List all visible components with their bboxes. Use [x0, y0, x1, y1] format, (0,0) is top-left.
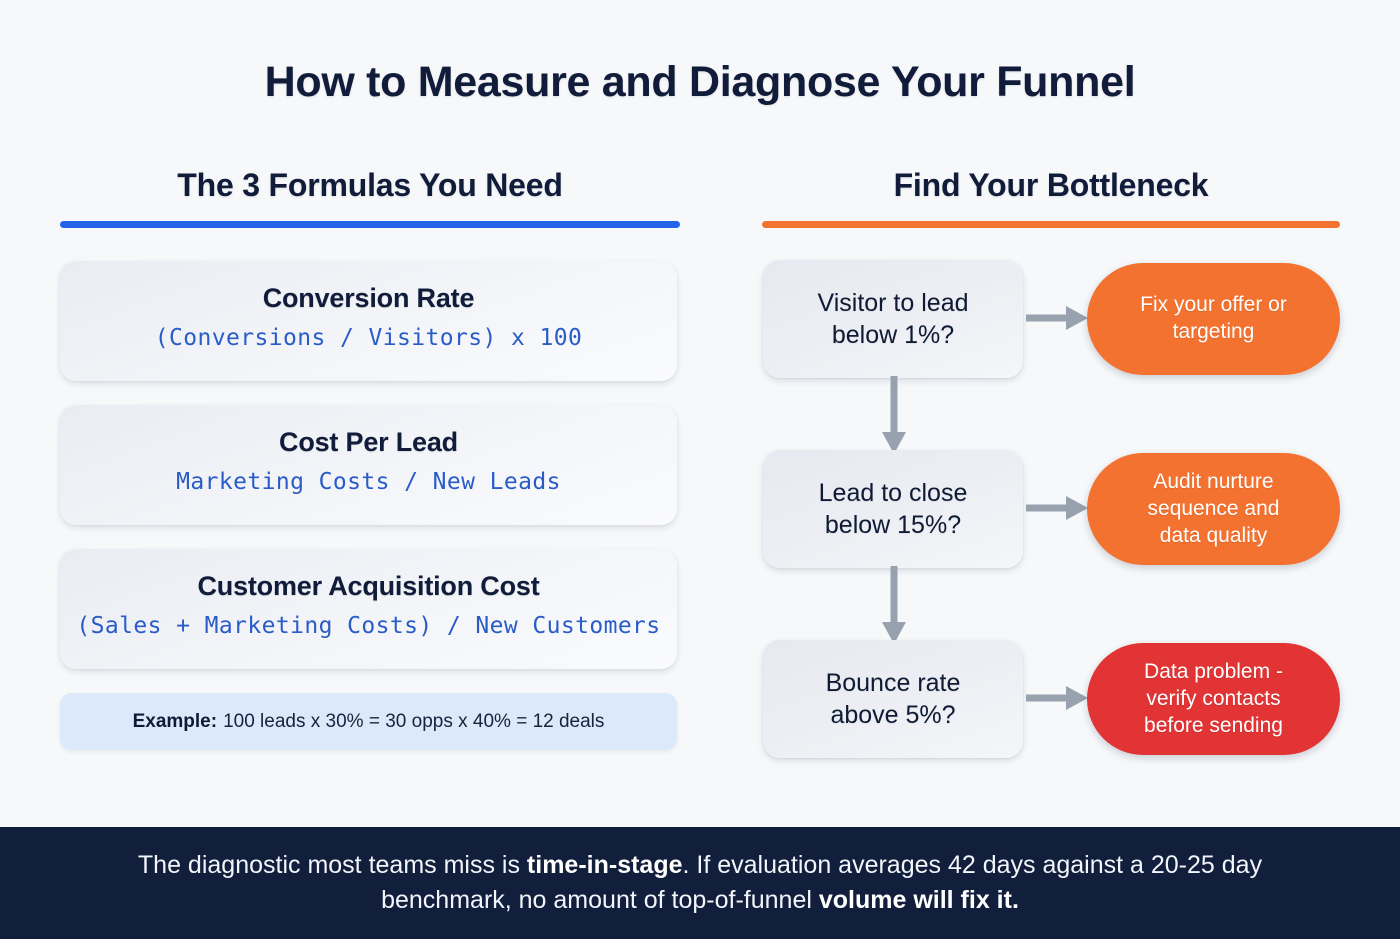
- example-box: Example:100 leads x 30% = 30 opps x 40% …: [60, 693, 677, 750]
- flow-row: Bounce rate above 5%? Data problem - ver…: [762, 640, 1340, 758]
- flow-action-fix-offer: Fix your offer or targeting: [1087, 263, 1340, 375]
- flow-row: Visitor to lead below 1%? Fix your offer…: [762, 260, 1340, 378]
- flow-action-line: data quality: [1160, 524, 1267, 547]
- flow-action-line: Fix your offer or: [1140, 293, 1287, 316]
- flow-question-lead-to-close: Lead to close below 15%?: [763, 450, 1023, 568]
- flow-action-line: verify contacts: [1146, 687, 1280, 710]
- flow-action-audit-nurture: Audit nurture sequence and data quality: [1087, 453, 1340, 565]
- arrow-down-icon: [880, 566, 908, 644]
- footer-text: The diagnostic most teams miss is time-i…: [85, 848, 1315, 919]
- formula-name: Customer Acquisition Cost: [74, 571, 663, 602]
- bottleneck-accent-rule: [762, 221, 1340, 228]
- formula-card-customer-acquisition-cost: Customer Acquisition Cost (Sales + Marke…: [60, 549, 677, 669]
- flow-action-line: Data problem -: [1144, 660, 1283, 683]
- flow-question-text: Lead to close below 15%?: [809, 477, 978, 541]
- infographic-page: How to Measure and Diagnose Your Funnel …: [0, 0, 1400, 939]
- arrow-right-icon: [1026, 304, 1088, 332]
- formulas-accent-rule: [60, 221, 680, 228]
- arrow-right-icon: [1026, 494, 1088, 522]
- formula-card-cost-per-lead: Cost Per Lead Marketing Costs / New Lead…: [60, 405, 677, 525]
- flow-question-text: Visitor to lead below 1%?: [807, 287, 978, 351]
- page-title: How to Measure and Diagnose Your Funnel: [0, 58, 1400, 107]
- flow-action-text: Data problem - verify contacts before se…: [1126, 659, 1301, 740]
- flow-action-text: Fix your offer or targeting: [1122, 292, 1305, 346]
- flow-action-line: targeting: [1173, 320, 1255, 343]
- footer-banner: The diagnostic most teams miss is time-i…: [0, 827, 1400, 939]
- flow-action-text: Audit nurture sequence and data quality: [1130, 469, 1298, 550]
- footer-part-1: The diagnostic most teams miss is: [138, 851, 527, 879]
- footer-bold-2: volume will fix it.: [819, 886, 1019, 914]
- flow-question-line: Lead to close: [819, 479, 968, 507]
- formula-expression: Marketing Costs / New Leads: [74, 469, 663, 495]
- flow-question-line: above 5%?: [830, 701, 955, 729]
- flow-question-line: below 1%?: [832, 321, 954, 349]
- formulas-column: The 3 Formulas You Need Conversion Rate …: [60, 168, 680, 750]
- flow-question-visitor-to-lead: Visitor to lead below 1%?: [763, 260, 1023, 378]
- formula-card-conversion-rate: Conversion Rate (Conversions / Visitors)…: [60, 261, 677, 381]
- flow-question-bounce-rate: Bounce rate above 5%?: [763, 640, 1023, 758]
- formula-expression: (Sales + Marketing Costs) / New Customer…: [74, 613, 663, 639]
- bottleneck-column: Find Your Bottleneck Visitor to lead bel…: [762, 168, 1340, 780]
- formula-card-list: Conversion Rate (Conversions / Visitors)…: [60, 261, 680, 669]
- flow-question-line: Visitor to lead: [817, 289, 968, 317]
- flow-question-line: below 15%?: [825, 511, 961, 539]
- bottleneck-heading: Find Your Bottleneck: [762, 168, 1340, 203]
- formulas-heading: The 3 Formulas You Need: [60, 168, 680, 203]
- flow-question-text: Bounce rate above 5%?: [816, 667, 971, 731]
- example-label: Example:: [133, 711, 217, 733]
- formula-name: Conversion Rate: [74, 283, 663, 314]
- formula-name: Cost Per Lead: [74, 427, 663, 458]
- flow-question-line: Bounce rate: [826, 669, 961, 697]
- flow-action-data-problem: Data problem - verify contacts before se…: [1087, 643, 1340, 755]
- example-text: 100 leads x 30% = 30 opps x 40% = 12 dea…: [223, 711, 604, 733]
- formula-expression: (Conversions / Visitors) x 100: [74, 325, 663, 351]
- flow-action-line: Audit nurture: [1153, 470, 1273, 493]
- diagnostic-flowchart: Visitor to lead below 1%? Fix your offer…: [762, 260, 1340, 780]
- arrow-down-icon: [880, 376, 908, 454]
- flow-row: Lead to close below 15%? Audit nurture s…: [762, 450, 1340, 568]
- flow-action-line: sequence and: [1148, 497, 1280, 520]
- flow-action-line: before sending: [1144, 714, 1283, 737]
- arrow-right-icon: [1026, 684, 1088, 712]
- footer-bold-1: time-in-stage: [527, 851, 683, 879]
